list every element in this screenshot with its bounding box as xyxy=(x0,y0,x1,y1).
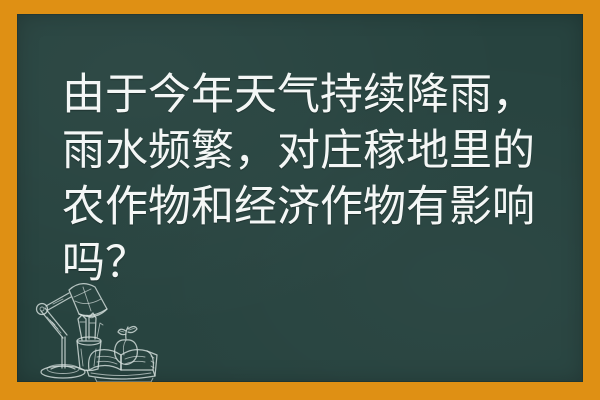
chalkboard-surface: 由于今年天气持续降雨，雨水频繁，对庄稼地里的农作物和经济作物有影响吗？ xyxy=(17,14,583,382)
desk-lamp-icon xyxy=(37,284,108,378)
question-text: 由于今年天气持续降雨，雨水频繁，对庄稼地里的农作物和经济作物有影响吗？ xyxy=(62,67,554,291)
desk-lamp-books-apple-chalk-drawing xyxy=(25,277,200,382)
open-book-icon xyxy=(87,350,157,379)
chalkboard-question-card: 由于今年天气持续降雨，雨水频繁，对庄稼地里的农作物和经济作物有影响吗？ xyxy=(0,0,600,400)
